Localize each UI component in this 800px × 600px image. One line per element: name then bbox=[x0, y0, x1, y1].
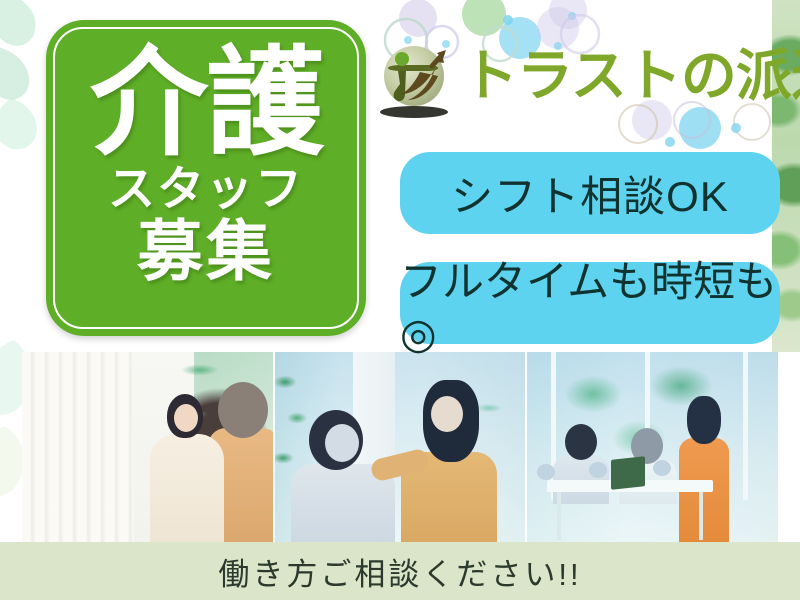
photo-group-activity-with-staff bbox=[527, 352, 778, 542]
window-frame bbox=[743, 352, 748, 500]
caregiver-body bbox=[150, 434, 224, 542]
footer-message: 働き方ご相談ください!! bbox=[218, 549, 581, 594]
footer-band: 働き方ご相談ください!! bbox=[0, 542, 800, 600]
photo-caregiver-with-wheelchair-senior bbox=[22, 352, 273, 542]
badge-label: シフト相談OK bbox=[451, 163, 729, 224]
headline-main-text: 介護 bbox=[90, 42, 322, 167]
headline-sub-text: スタッフ bbox=[108, 163, 304, 215]
caregiver-face bbox=[431, 396, 463, 432]
headline-card: 介護 スタッフ 募集 bbox=[46, 20, 366, 336]
table-leg bbox=[557, 492, 561, 540]
photo-caregiver-talking-with-senior bbox=[275, 352, 526, 542]
table-leg bbox=[699, 492, 703, 540]
senior-face bbox=[325, 424, 359, 462]
badge-shift-consultation: シフト相談OK bbox=[400, 152, 780, 234]
curtain bbox=[22, 352, 134, 542]
advertisement-banner: 介護 スタッフ 募集 bbox=[0, 0, 800, 600]
trust-person-arrow-logo-icon bbox=[374, 32, 458, 120]
caregiver-face bbox=[174, 404, 198, 432]
brand-name: トラストの派遣 bbox=[462, 48, 800, 104]
laptop bbox=[611, 456, 645, 490]
headline-action-text: 募集 bbox=[137, 217, 275, 286]
badge-label: フルタイムも時短も◎ bbox=[400, 248, 780, 358]
badge-fulltime-parttime: フルタイムも時短も◎ bbox=[400, 262, 780, 344]
brand-lockup: トラストの派遣 bbox=[374, 30, 800, 122]
staff-head bbox=[687, 396, 721, 444]
senior-head bbox=[218, 382, 268, 438]
photo-strip bbox=[22, 352, 778, 542]
